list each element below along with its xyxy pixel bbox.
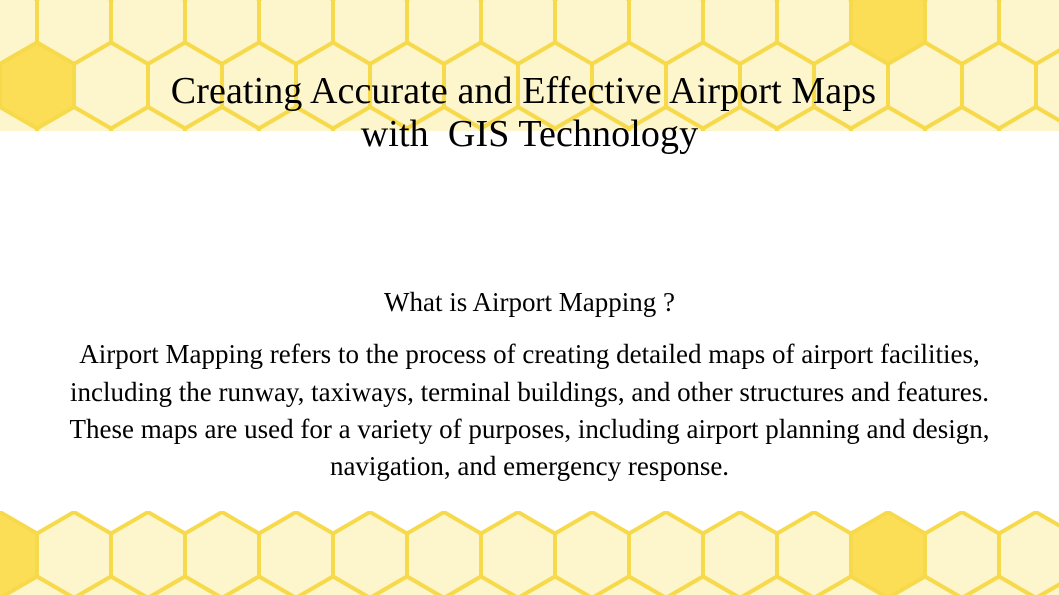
hexagon-cell bbox=[999, 512, 1059, 595]
hexagon-cell bbox=[592, 577, 666, 595]
hexagon-cell bbox=[555, 0, 629, 64]
body-paragraph: Airport Mapping refers to the process of… bbox=[48, 336, 1011, 485]
hexagon-cell bbox=[703, 512, 777, 595]
hexagon-cell bbox=[1036, 577, 1059, 595]
hexagon-cell bbox=[111, 512, 185, 595]
hexagon-cell bbox=[814, 577, 888, 595]
hexagon-cell bbox=[444, 577, 518, 595]
hexagon-cell bbox=[777, 512, 851, 595]
hexagon-cell bbox=[37, 512, 111, 595]
bottom-honeycomb-decoration bbox=[0, 511, 1059, 595]
hexagon-cell bbox=[148, 577, 222, 595]
hexagon-cell bbox=[999, 0, 1059, 64]
hexagon-accent bbox=[0, 512, 37, 595]
hexagon-cell bbox=[962, 577, 1036, 595]
title-line-1: Creating Accurate and Effective Airport … bbox=[0, 70, 1059, 113]
bottom-honeycomb-svg bbox=[0, 511, 1059, 595]
hexagon-accent bbox=[851, 0, 925, 64]
hexagon-cell bbox=[111, 0, 185, 64]
hexagon-cell bbox=[0, 0, 37, 64]
hexagon-accent bbox=[851, 512, 925, 595]
hexagon-cell bbox=[629, 0, 703, 64]
hexagon-cell bbox=[259, 512, 333, 595]
hexagon-cell bbox=[703, 0, 777, 64]
hexagon-cell bbox=[185, 0, 259, 64]
hexagon-cell bbox=[777, 0, 851, 64]
hexagon-cell bbox=[333, 0, 407, 64]
hexagon-cell bbox=[37, 0, 111, 64]
hexagon-cell bbox=[481, 512, 555, 595]
body-subheading: What is Airport Mapping ? bbox=[48, 286, 1011, 318]
slide-body: What is Airport Mapping ? Airport Mappin… bbox=[48, 286, 1011, 485]
hexagon-cell bbox=[407, 512, 481, 595]
hexagon-cell bbox=[629, 512, 703, 595]
hexagon-cell bbox=[925, 512, 999, 595]
hexagon-cell bbox=[407, 0, 481, 64]
hexagon-cell bbox=[740, 577, 814, 595]
hexagon-cell bbox=[333, 512, 407, 595]
hexagon-cell bbox=[74, 577, 148, 595]
presentation-slide: Creating Accurate and Effective Airport … bbox=[0, 0, 1059, 595]
hexagon-cell bbox=[259, 0, 333, 64]
hexagon-cell bbox=[481, 0, 555, 64]
hexagon-cell bbox=[0, 577, 74, 595]
hexagon-cell bbox=[518, 577, 592, 595]
hexagon-cell bbox=[185, 512, 259, 595]
slide-title: Creating Accurate and Effective Airport … bbox=[0, 70, 1059, 155]
hexagon-cell bbox=[888, 577, 962, 595]
hexagon-cell bbox=[222, 577, 296, 595]
hexagon-cell bbox=[666, 577, 740, 595]
title-line-2: with GIS Technology bbox=[0, 113, 1059, 156]
hexagon-cell bbox=[925, 0, 999, 64]
hexagon-cell bbox=[296, 577, 370, 595]
hexagon-cell bbox=[555, 512, 629, 595]
hexagon-cell bbox=[370, 577, 444, 595]
